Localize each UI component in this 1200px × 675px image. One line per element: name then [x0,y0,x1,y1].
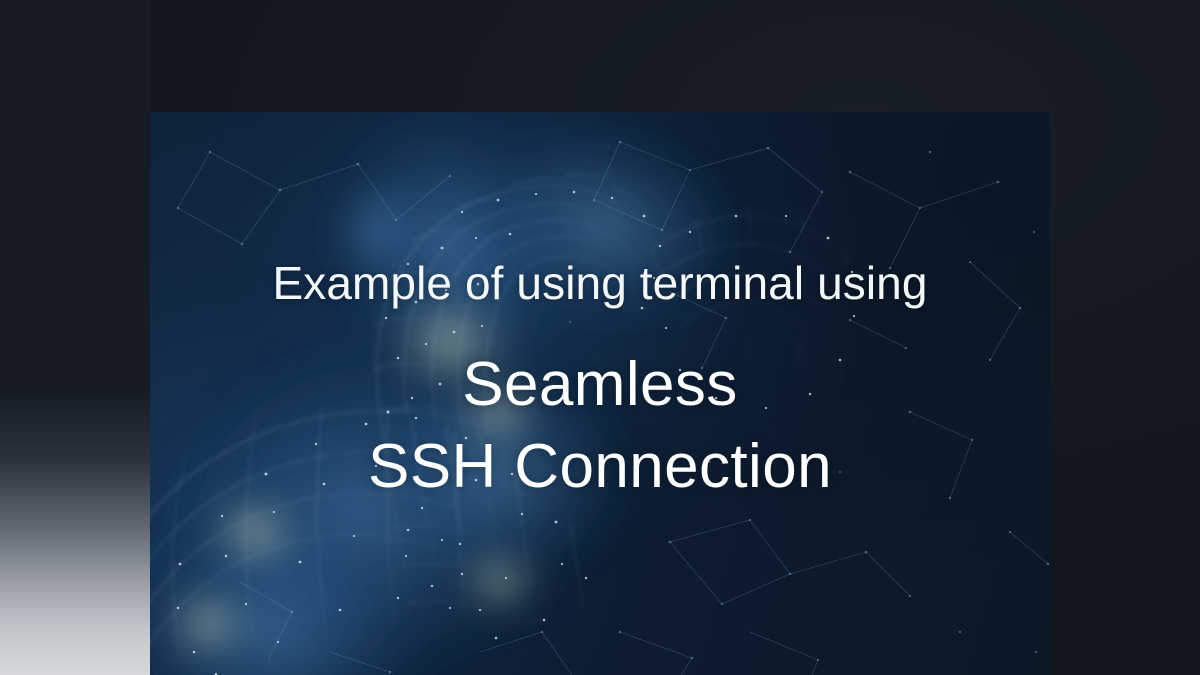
abstract-plexus-network-graphic [150,112,1050,675]
slide-panel[interactable]: Example of using terminal using Seamless… [150,112,1050,675]
bottom-left-gradient-strip [0,0,150,675]
screenshot-stage: Example of using terminal using Seamless… [0,0,1200,675]
